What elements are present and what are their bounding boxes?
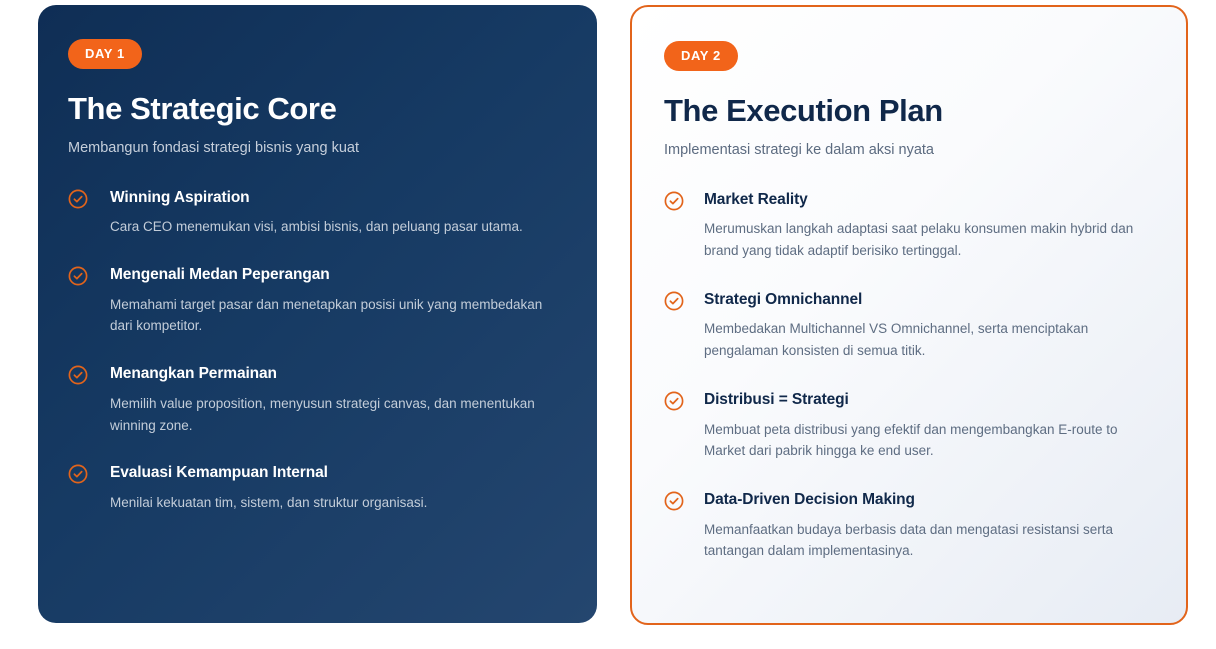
- list-item: Market Reality Merumuskan langkah adapta…: [664, 190, 1156, 262]
- curriculum-board: DAY 1 The Strategic Core Membangun fonda…: [0, 0, 1216, 649]
- list-item-title: Evaluasi Kemampuan Internal: [110, 463, 567, 482]
- day-1-subtitle: Membangun fondasi strategi bisnis yang k…: [68, 138, 567, 158]
- day-2-badge: DAY 2: [664, 41, 738, 71]
- check-circle-icon: [68, 464, 88, 484]
- list-item: Evaluasi Kemampuan Internal Menilai keku…: [68, 463, 567, 513]
- day-1-card-content: DAY 1 The Strategic Core Membangun fonda…: [38, 5, 597, 544]
- list-item: Distribusi = Strategi Membuat peta distr…: [664, 390, 1156, 462]
- list-item-title: Strategi Omnichannel: [704, 290, 1156, 309]
- check-circle-icon: [664, 491, 684, 511]
- list-item-desc: Membuat peta distribusi yang efektif dan…: [704, 419, 1156, 463]
- list-item-desc: Memahami target pasar dan menetapkan pos…: [110, 294, 567, 338]
- check-circle-icon: [664, 291, 684, 311]
- list-item-desc: Memilih value proposition, menyusun stra…: [110, 393, 567, 437]
- list-item-desc: Menilai kekuatan tim, sistem, dan strukt…: [110, 492, 567, 514]
- day-2-title: The Execution Plan: [664, 93, 1156, 129]
- list-item-desc: Membedakan Multichannel VS Omnichannel, …: [704, 318, 1156, 362]
- day-2-card: DAY 2 The Execution Plan Implementasi st…: [630, 5, 1188, 625]
- list-item-title: Menangkan Permainan: [110, 364, 567, 383]
- day-2-subtitle: Implementasi strategi ke dalam aksi nyat…: [664, 140, 1156, 160]
- list-item-title: Data-Driven Decision Making: [704, 490, 1156, 509]
- day-1-title: The Strategic Core: [68, 91, 567, 127]
- list-item: Menangkan Permainan Memilih value propos…: [68, 364, 567, 436]
- check-circle-icon: [68, 266, 88, 286]
- list-item: Winning Aspiration Cara CEO menemukan vi…: [68, 188, 567, 238]
- list-item-desc: Merumuskan langkah adaptasi saat pelaku …: [704, 218, 1156, 262]
- list-item: Data-Driven Decision Making Memanfaatkan…: [664, 490, 1156, 562]
- check-circle-icon: [68, 189, 88, 209]
- list-item-desc: Memanfaatkan budaya berbasis data dan me…: [704, 519, 1156, 563]
- day-1-card: DAY 1 The Strategic Core Membangun fonda…: [38, 5, 597, 623]
- list-item: Mengenali Medan Peperangan Memahami targ…: [68, 265, 567, 337]
- day-2-card-content: DAY 2 The Execution Plan Implementasi st…: [632, 7, 1186, 620]
- list-item-title: Mengenali Medan Peperangan: [110, 265, 567, 284]
- list-item-desc: Cara CEO menemukan visi, ambisi bisnis, …: [110, 216, 567, 238]
- day-1-badge: DAY 1: [68, 39, 142, 69]
- list-item: Strategi Omnichannel Membedakan Multicha…: [664, 290, 1156, 362]
- check-circle-icon: [664, 391, 684, 411]
- day-2-topic-list: Market Reality Merumuskan langkah adapta…: [664, 190, 1156, 562]
- day-1-topic-list: Winning Aspiration Cara CEO menemukan vi…: [68, 188, 567, 514]
- check-circle-icon: [664, 191, 684, 211]
- check-circle-icon: [68, 365, 88, 385]
- list-item-title: Market Reality: [704, 190, 1156, 209]
- list-item-title: Distribusi = Strategi: [704, 390, 1156, 409]
- list-item-title: Winning Aspiration: [110, 188, 567, 207]
